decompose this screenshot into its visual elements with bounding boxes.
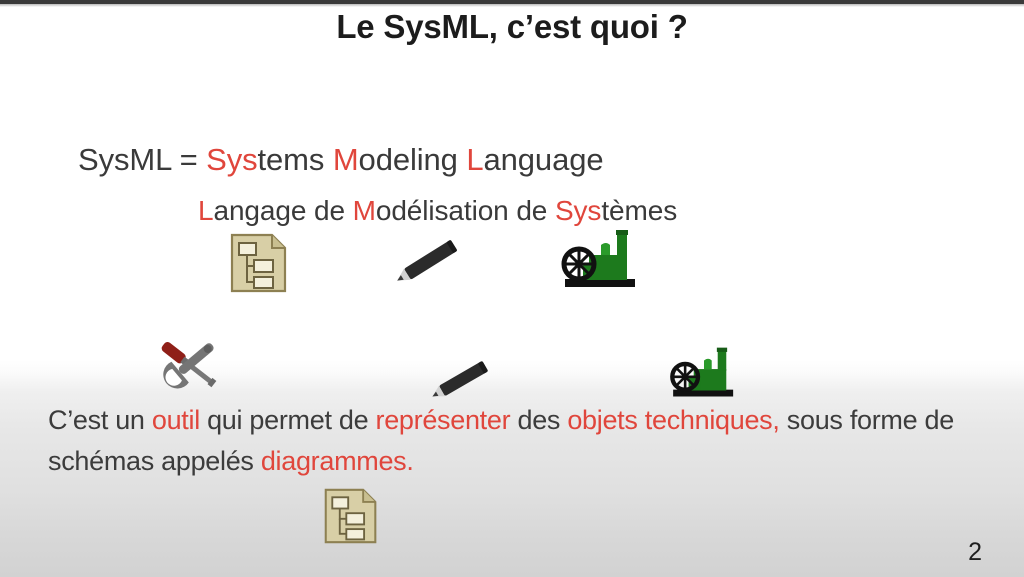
- machine-engine-icon: [559, 227, 643, 291]
- sysml-french-translation-line: Langage de Modélisation de Systèmes: [198, 195, 677, 227]
- page-title: Le SysML, c’est quoi ?: [0, 8, 1024, 46]
- para-seg-0: C’est un: [48, 405, 152, 435]
- french-seg-5: tèmes: [601, 195, 677, 226]
- acronym-seg-5: L: [466, 142, 483, 177]
- sysml-acronym-line: SysML = Systems Modeling Language: [78, 142, 604, 178]
- para-seg-4: des: [510, 405, 567, 435]
- acronym-seg-0: SysML =: [78, 142, 206, 177]
- para-seg-3: représenter: [376, 405, 511, 435]
- french-seg-4: Sys: [555, 195, 601, 226]
- pencil-icon-secondary: [424, 356, 498, 404]
- tools-icon: [151, 331, 227, 397]
- diagram-document-icon: [228, 232, 290, 294]
- acronym-seg-3: M: [333, 142, 359, 177]
- definition-paragraph: C’est un outil qui permet de représenter…: [48, 400, 1024, 482]
- french-seg-0: L: [198, 195, 213, 226]
- para-seg-1: outil: [152, 405, 200, 435]
- diagram-document-icon-secondary: [322, 487, 380, 545]
- french-seg-2: M: [353, 195, 376, 226]
- french-seg-3: odélisation de: [376, 195, 555, 226]
- pencil-icon: [388, 236, 468, 288]
- machine-engine-icon-secondary: [668, 345, 740, 400]
- french-seg-1: angage de: [213, 195, 352, 226]
- para-seg-8: diagrammes.: [261, 446, 414, 476]
- page-number: 2: [968, 538, 982, 567]
- para-seg-2: qui permet de: [200, 405, 376, 435]
- acronym-seg-6: anguage: [484, 142, 604, 177]
- slide-canvas: Le SysML, c’est quoi ? SysML = Systems M…: [0, 0, 1024, 577]
- para-seg-6: ,: [772, 405, 779, 435]
- para-seg-5: objets techniques: [567, 405, 772, 435]
- acronym-seg-1: Sys: [206, 142, 257, 177]
- acronym-seg-4: odeling: [359, 142, 467, 177]
- acronym-seg-2: tems: [258, 142, 333, 177]
- top-edge-fade: [0, 4, 1024, 7]
